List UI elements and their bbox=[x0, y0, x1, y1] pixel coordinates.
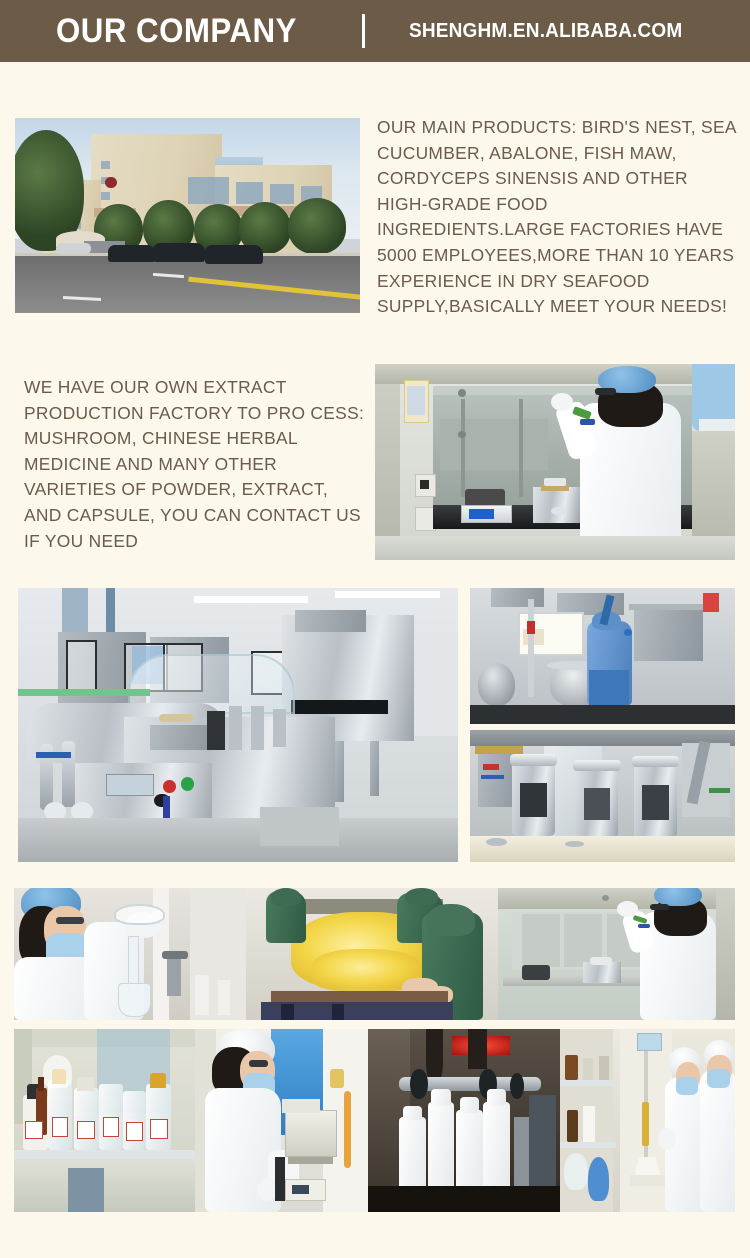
page-header: OUR COMPANY SHENGHM.EN.ALIBABA.COM bbox=[0, 0, 750, 62]
photo-weighing-balance bbox=[195, 1029, 368, 1212]
photo-bottle-capping-line bbox=[368, 1029, 560, 1212]
photo-reagent-bottles bbox=[14, 1029, 195, 1212]
photo-capsule-inspection bbox=[246, 888, 498, 1020]
store-url: SHENGHM.EN.ALIBABA.COM bbox=[409, 20, 682, 43]
extract-factory-text: WE HAVE OUR OWN EXTRACT PRODUCTION FACTO… bbox=[24, 375, 369, 554]
photo-titration-lab bbox=[560, 1029, 735, 1212]
photo-extraction-kettle bbox=[470, 588, 735, 724]
photo-fumehood-lab bbox=[375, 364, 735, 560]
photo-production-line bbox=[18, 588, 458, 862]
header-divider bbox=[362, 14, 365, 48]
main-products-text: OUR MAIN PRODUCTS: BIRD'S NEST, SEA CUCU… bbox=[377, 115, 737, 320]
photo-lab-beaker bbox=[14, 888, 246, 1020]
photo-fumehood-lab-2 bbox=[498, 888, 735, 1020]
photo-building bbox=[15, 118, 360, 313]
page-title: OUR COMPANY bbox=[56, 14, 297, 48]
photo-capsule-filling-machine bbox=[470, 730, 735, 862]
